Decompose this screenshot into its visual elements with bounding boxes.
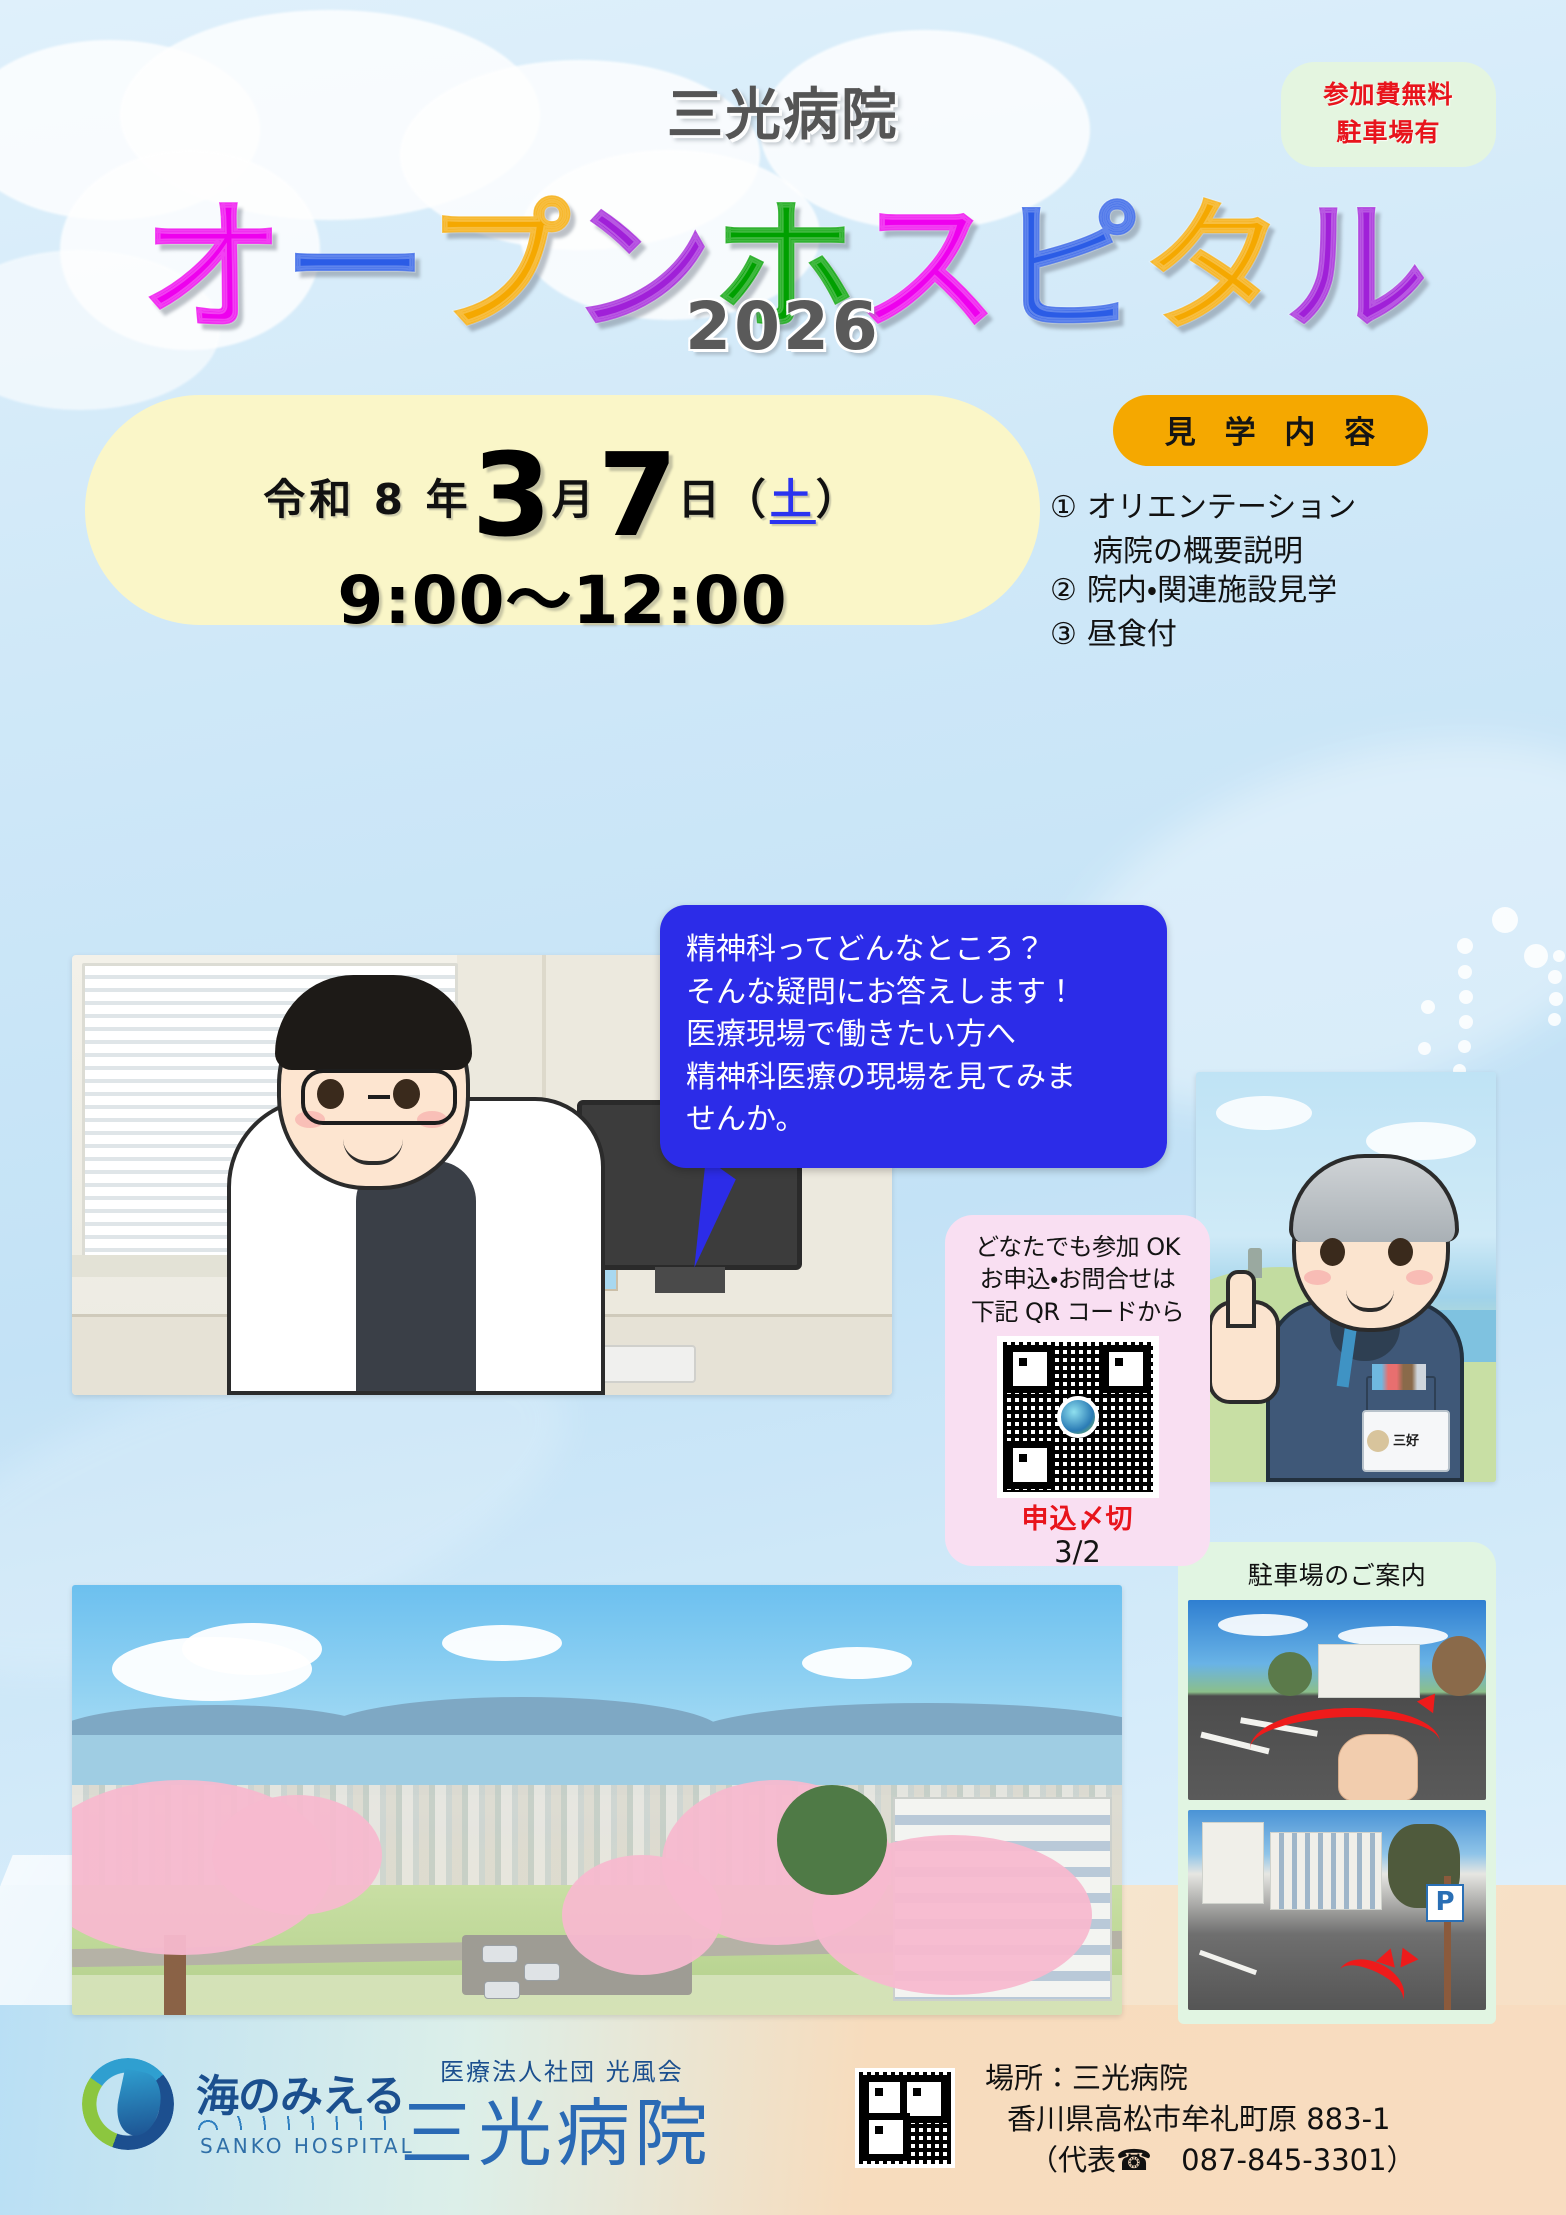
decor-dot xyxy=(1548,970,1562,984)
application-qr-card: どなたでも参加 OK お申込・お問合せは 下記 QR コードから 申込〆切 3/… xyxy=(945,1215,1210,1566)
decor-dot xyxy=(1421,1000,1435,1014)
decor-dot xyxy=(1553,950,1565,962)
decor-dot xyxy=(1548,1013,1561,1026)
program-item-subtext: 病院の概要説明 xyxy=(1050,532,1490,572)
decor-dot xyxy=(1524,944,1548,968)
day-number: 7 xyxy=(598,429,678,563)
badge-line-1: 参加費無料 xyxy=(1281,76,1496,114)
program-item-number: ① xyxy=(1050,488,1077,528)
event-date-line: 令和 8 年3月7日（土） xyxy=(85,439,1040,554)
qr-finder-icon xyxy=(1006,1441,1054,1489)
nurse-eye xyxy=(1320,1238,1345,1266)
speech-line: 精神科ってどんなところ？ xyxy=(686,929,1141,972)
badge-photo xyxy=(1367,1430,1389,1452)
tree-icon xyxy=(1268,1652,1312,1696)
car-icon xyxy=(484,1981,520,1999)
parking-guide-title: 駐車場のご案内 xyxy=(1188,1556,1486,1592)
car-icon xyxy=(482,1945,518,1963)
footer-hospital-name: 三光病院 xyxy=(400,2074,712,2181)
footer: 海のみえる SANKO HOSPITAL 医療法人社団 光風会 三光病院 場所：… xyxy=(0,2010,1566,2215)
nurse-head xyxy=(1292,1164,1450,1332)
decor-dot xyxy=(1549,992,1563,1006)
nurse-eye xyxy=(1388,1238,1413,1266)
decor-dot xyxy=(1418,1042,1431,1055)
speech-line: せんか。 xyxy=(686,1099,1141,1142)
program-section: 見 学 内 容 ① オリエンテーション 病院の概要説明 ② 院内・関連施設見学 … xyxy=(1050,395,1490,658)
decor-dot xyxy=(1458,965,1472,979)
event-time: 9:00〜12:00 xyxy=(85,547,1040,643)
cherry-blossom xyxy=(212,1795,382,1915)
glasses-icon xyxy=(301,1069,457,1125)
hospital-landscape-illustration xyxy=(72,1585,1122,2015)
weekday: 土 xyxy=(770,475,816,524)
program-item-label: 昼食付 xyxy=(1087,615,1490,655)
nurse-cheek xyxy=(1304,1270,1331,1285)
cloud-shape xyxy=(1216,1096,1312,1130)
decor-dot xyxy=(1458,1040,1471,1053)
qr-instruction-line: どなたでも参加 OK xyxy=(945,1231,1210,1263)
venue-address: 香川県高松市牟礼町原 883-1 xyxy=(985,2099,1416,2140)
program-item: ③ 昼食付 xyxy=(1050,615,1490,655)
pens-icon xyxy=(1372,1364,1426,1390)
hospital-building xyxy=(1318,1644,1420,1698)
website-qr-code[interactable] xyxy=(855,2068,955,2168)
weekday-paren-open: （ xyxy=(724,475,770,524)
green-tree xyxy=(777,1785,887,1895)
cloud-shape xyxy=(182,1623,322,1675)
logo-tagline-jp: 海のみえる xyxy=(196,2062,405,2124)
day-unit: 日 xyxy=(678,475,724,524)
qr-finder-icon xyxy=(1006,1345,1054,1393)
cloud-shape xyxy=(1218,1614,1308,1636)
decor-dot xyxy=(1459,1015,1473,1029)
weekday-paren-close: ） xyxy=(816,475,862,524)
speech-line: そんな疑問にお答えします！ xyxy=(686,972,1141,1015)
logo-wave-icon xyxy=(196,2116,396,2130)
pointing-finger-icon xyxy=(1226,1270,1256,1328)
month-number: 3 xyxy=(472,429,552,563)
cloud-shape xyxy=(442,1625,562,1661)
hospital-building xyxy=(1270,1832,1382,1910)
program-item-label: オリエンテーション xyxy=(1087,488,1490,528)
car-icon xyxy=(524,1963,560,1981)
program-title: 見 学 内 容 xyxy=(1113,395,1428,466)
free-participation-badge: 参加費無料 駐車場有 xyxy=(1281,62,1496,167)
application-deadline-label: 申込〆切 xyxy=(945,1504,1210,1535)
program-item-number: ② xyxy=(1050,571,1077,611)
nurse-smile xyxy=(1346,1290,1394,1312)
doctor-smile xyxy=(343,1139,403,1165)
program-item-number: ③ xyxy=(1050,615,1077,655)
hospital-building xyxy=(1202,1822,1264,1904)
direction-arrow-head xyxy=(1417,1688,1443,1714)
nurse-illustration: 三好 xyxy=(1196,1072,1496,1482)
program-list: ① オリエンテーション 病院の概要説明 ② 院内・関連施設見学 ③ 昼食付 xyxy=(1050,488,1490,654)
nurse-hair xyxy=(1289,1154,1459,1242)
parking-guide-card: 駐車場のご案内 P xyxy=(1178,1542,1496,2024)
program-item: ② 院内・関連施設見学 xyxy=(1050,571,1490,611)
pointing-hand xyxy=(1338,1734,1418,1800)
speech-line: 医療現場で働きたい方へ xyxy=(686,1014,1141,1057)
decor-dot xyxy=(1457,938,1473,954)
program-item-label: 院内・関連施設見学 xyxy=(1087,571,1490,611)
event-year: 2026 xyxy=(0,288,1566,365)
month-unit: 月 xyxy=(552,475,598,524)
direction-arrow xyxy=(1329,1949,1413,2010)
qr-finder-icon xyxy=(862,2113,910,2161)
badge-line-2: 駐車場有 xyxy=(1281,114,1496,152)
application-qr-code[interactable] xyxy=(997,1336,1159,1498)
id-badge: 三好 xyxy=(1362,1410,1450,1472)
doctor-shirt xyxy=(356,1161,476,1391)
qr-finder-icon xyxy=(1102,1345,1150,1393)
decor-dot xyxy=(1459,990,1473,1004)
event-date-card: 令和 8 年3月7日（土） 9:00〜12:00 xyxy=(85,395,1040,625)
nurse-hand xyxy=(1208,1300,1280,1404)
application-deadline-date: 3/2 xyxy=(945,1535,1210,1570)
parking-photo-entrance: P xyxy=(1188,1810,1486,2010)
badge-name: 三好 xyxy=(1393,1435,1419,1448)
qr-matrix xyxy=(1003,1342,1153,1492)
decor-dot xyxy=(1492,907,1518,933)
hospital-logo-icon xyxy=(1057,1396,1099,1438)
cloud-shape xyxy=(802,1647,912,1679)
road-marking xyxy=(1199,1950,1257,1975)
cloud-shape xyxy=(1338,1626,1448,1646)
hospital-logo-icon xyxy=(82,2058,174,2150)
speech-bubble: 精神科ってどんなところ？ そんな疑問にお答えします！ 医療現場で働きたい方へ 精… xyxy=(660,905,1167,1168)
venue-info: 場所：三光病院 香川県高松市牟礼町原 883-1 （代表☎ 087-845-33… xyxy=(985,2058,1416,2182)
doctor-head xyxy=(277,987,470,1190)
program-item: ① オリエンテーション xyxy=(1050,488,1490,528)
cherry-blossom xyxy=(562,1855,722,1975)
logo-tagline-en: SANKO HOSPITAL xyxy=(200,2134,415,2158)
venue-name: 場所：三光病院 xyxy=(985,2058,1416,2099)
parking-photo-approach xyxy=(1188,1600,1486,1800)
qr-instruction-line: お申込・お問合せは xyxy=(945,1263,1210,1295)
venue-phone: （代表☎ 087-845-3301） xyxy=(985,2140,1416,2181)
qr-matrix xyxy=(859,2072,951,2164)
era-year: 令和 8 年 xyxy=(263,475,471,524)
direction-arrow-head xyxy=(1401,1948,1420,1970)
nurse-cheek xyxy=(1406,1270,1433,1285)
qr-instruction-line: 下記 QR コードから xyxy=(945,1296,1210,1328)
tree-icon xyxy=(1432,1636,1486,1696)
parking-sign-icon: P xyxy=(1426,1884,1464,1922)
speech-line: 精神科医療の現場を見てみま xyxy=(686,1057,1141,1100)
